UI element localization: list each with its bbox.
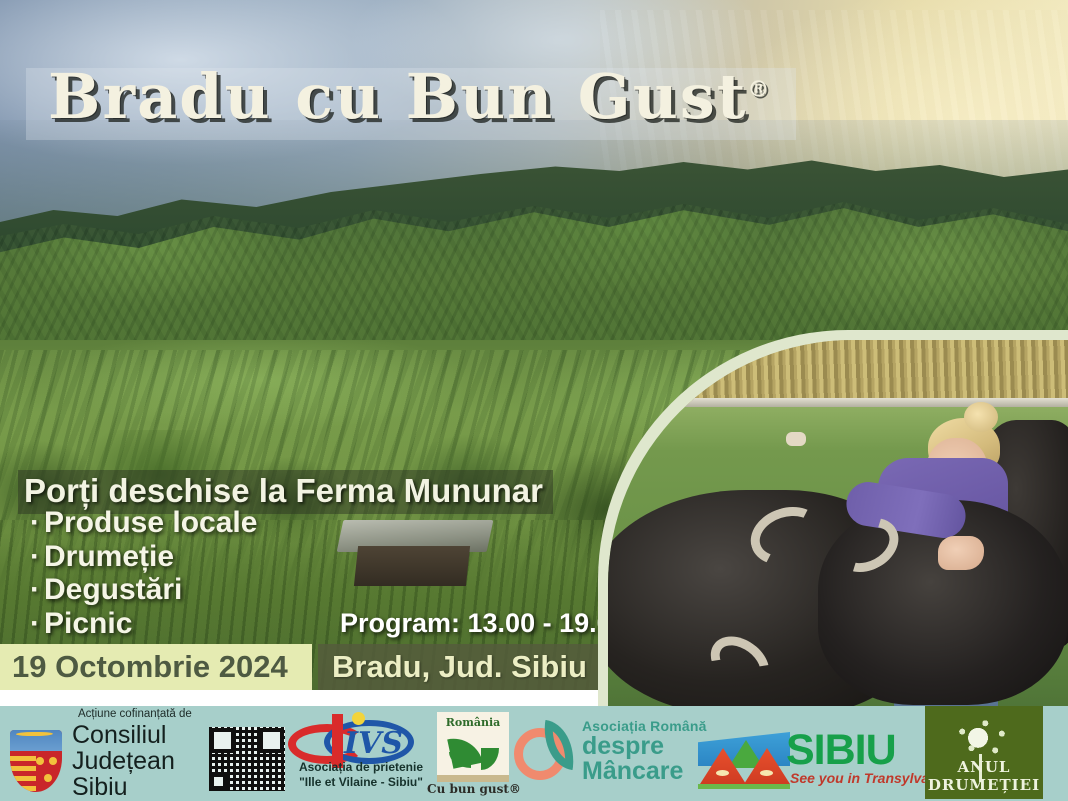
sbt-eye-window-icon bbox=[760, 770, 773, 776]
ivs-wordmark: IVS bbox=[344, 726, 403, 761]
sibiu-tourism-icon bbox=[698, 732, 790, 784]
qr-pattern bbox=[209, 727, 285, 791]
event-date-badge: 19 Octombrie 2024 bbox=[0, 644, 312, 690]
list-item-label: Produse locale bbox=[44, 506, 257, 539]
bullet-icon: · bbox=[30, 607, 40, 640]
list-item: ·Produse locale bbox=[30, 506, 257, 540]
cjs-line-2: Județean bbox=[72, 748, 175, 774]
event-location-badge: Bradu, Jud. Sibiu bbox=[318, 644, 604, 690]
qr-code-icon[interactable] bbox=[209, 727, 285, 791]
lion-icon bbox=[16, 732, 52, 737]
romania-cu-bun-gust-icon: România bbox=[437, 712, 509, 782]
arm-line-3: Mâncare bbox=[582, 759, 707, 784]
anul-drumetiei-logo: ANUL DRUMEȚIEI bbox=[925, 706, 1043, 799]
cjs-line-3: Sibiu bbox=[72, 774, 175, 800]
list-item: ·Drumeție bbox=[30, 540, 257, 574]
event-poster: Bradu cu Bun Gust® Porți deschise la Fer… bbox=[0, 0, 1068, 801]
inset-photo-frame bbox=[598, 330, 1068, 710]
page-title: Bradu cu Bun Gust® bbox=[48, 60, 771, 133]
grazing-cow bbox=[798, 418, 866, 452]
asociatia-romana-logo-icon bbox=[514, 722, 578, 786]
sbt-eye-window-icon bbox=[716, 770, 729, 776]
bullet-icon: · bbox=[30, 573, 40, 606]
qr-finder-bottom-left bbox=[210, 773, 227, 790]
asociatia-romana-label: Asociația Română despre Mâncare bbox=[582, 718, 707, 784]
shield-stripes bbox=[10, 751, 36, 792]
event-date-text: 19 Octombrie 2024 bbox=[12, 649, 288, 685]
farmhouse-barn bbox=[340, 520, 490, 588]
shield-shape bbox=[10, 730, 62, 792]
rcg-caption: Cu bun gust® bbox=[425, 782, 523, 796]
list-item-label: Picnic bbox=[44, 607, 132, 640]
cofinance-note: Acțiune cofinanțată de bbox=[78, 708, 192, 720]
rcg-country-label: România bbox=[437, 716, 509, 729]
list-item: ·Degustări bbox=[30, 573, 257, 607]
arm-line-2: despre bbox=[582, 734, 707, 759]
bullet-icon: · bbox=[30, 540, 40, 573]
shield-chief bbox=[10, 730, 62, 751]
ivs-yellow-dot bbox=[352, 712, 365, 725]
cjs-line-1: Consiliul bbox=[72, 722, 175, 748]
list-item-label: Degustări bbox=[44, 573, 182, 606]
activities-list: ·Produse locale ·Drumeție ·Degustări ·Pi… bbox=[30, 506, 257, 640]
ivs-caption-line-2: "Ille et Vilaine - Sibiu" bbox=[286, 775, 436, 790]
ivs-caption: Asociația de prietenie "Ille et Vilaine … bbox=[286, 760, 436, 790]
county-council-label: Consiliul Județean Sibiu bbox=[72, 722, 175, 800]
sibiu-coat-of-arms-icon bbox=[10, 730, 62, 792]
cornfield bbox=[608, 340, 1068, 404]
woman-hand bbox=[938, 536, 984, 570]
program-hours: Program: 13.00 - 19.00 bbox=[340, 608, 627, 639]
bullet-icon: · bbox=[30, 506, 40, 539]
shield-triangle-charge bbox=[36, 757, 57, 782]
sibiu-wordmark: SIBIU bbox=[786, 726, 896, 775]
event-location-text: Bradu, Jud. Sibiu bbox=[332, 649, 587, 685]
barn-wall bbox=[354, 546, 470, 586]
inset-photo-buffalo-farm bbox=[608, 340, 1068, 710]
anul-drumetiei-wordmark: ANUL DRUMEȚIEI bbox=[925, 758, 1043, 794]
ivs-caption-line-1: Asociația de prietenie bbox=[286, 760, 436, 775]
title-main: Bradu cu Bun Gust bbox=[48, 60, 747, 133]
fence-wall bbox=[608, 398, 1068, 407]
sbt-ground bbox=[698, 784, 790, 789]
list-item-label: Drumeție bbox=[44, 540, 174, 573]
list-item: ·Picnic bbox=[30, 607, 257, 641]
registered-trademark-icon: ® bbox=[747, 76, 771, 102]
woman-hair-bun bbox=[964, 402, 998, 432]
